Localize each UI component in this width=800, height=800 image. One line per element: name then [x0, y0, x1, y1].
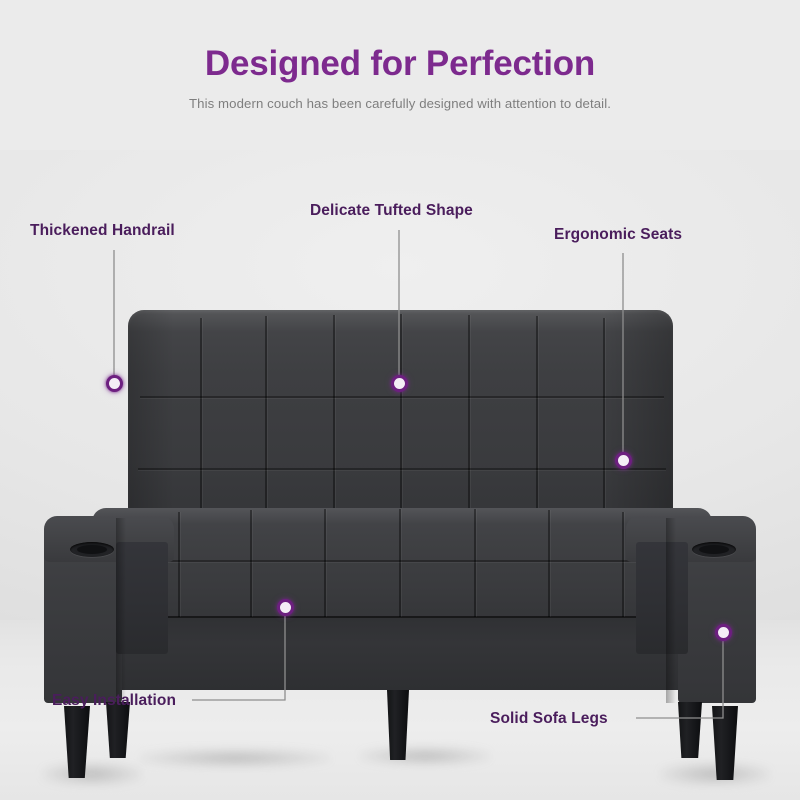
backrest-stitch	[603, 318, 605, 518]
sofa-leg	[712, 706, 738, 780]
callout-marker-thickened-handrail[interactable]	[106, 375, 123, 392]
callout-marker-easy-installation[interactable]	[277, 599, 294, 616]
seat-stitch	[250, 510, 252, 617]
backrest-stitch	[140, 396, 664, 398]
armrest-inner-panel-right	[636, 542, 688, 654]
backrest-stitch	[138, 468, 666, 470]
backrest-stitch	[468, 315, 470, 518]
backrest-stitch	[400, 314, 402, 518]
page-subtitle: This modern couch has been carefully des…	[0, 95, 800, 113]
seat-stitch	[474, 509, 476, 617]
backrest-stitch	[536, 316, 538, 518]
callout-label-delicate-tufted-shape[interactable]: Delicate Tufted Shape	[310, 202, 473, 220]
page-title: Designed for Perfection	[0, 42, 800, 86]
armrest-shading	[116, 518, 126, 703]
callout-marker-ergonomic-seats[interactable]	[615, 452, 632, 469]
cup-holder-right	[692, 542, 736, 557]
backrest-right-shading	[603, 310, 673, 525]
seat-stitch	[100, 560, 704, 562]
sofa-seat-cushion	[92, 508, 712, 633]
sofa-leg	[106, 702, 130, 758]
cup-holder-recess	[699, 545, 729, 554]
sofa-leg	[387, 690, 409, 760]
backrest-left-shading	[128, 310, 174, 525]
seat-stitch	[622, 512, 624, 617]
seat-highlight	[92, 508, 712, 524]
cup-holder-left	[70, 542, 114, 557]
armrest-shading	[666, 518, 676, 703]
backrest-stitch	[265, 316, 267, 518]
callout-label-easy-installation[interactable]: Easy Installation	[52, 692, 176, 710]
sofa-leg	[678, 702, 702, 758]
callout-marker-solid-sofa-legs[interactable]	[715, 624, 732, 641]
callout-label-solid-sofa-legs[interactable]: Solid Sofa Legs	[490, 710, 608, 728]
callout-label-ergonomic-seats[interactable]: Ergonomic Seats	[554, 226, 682, 244]
seat-stitch	[399, 509, 401, 617]
callout-marker-delicate-tufted-shape[interactable]	[391, 375, 408, 392]
seat-stitch	[324, 509, 326, 617]
sofa-base-frame	[92, 618, 712, 690]
sofa-leg	[64, 706, 90, 778]
backrest-stitch	[333, 315, 335, 518]
seat-stitch	[548, 510, 550, 617]
cup-holder-recess	[77, 545, 107, 554]
callout-label-thickened-handrail[interactable]: Thickened Handrail	[30, 222, 175, 240]
backrest-stitch	[200, 318, 202, 518]
infographic-canvas: Designed for Perfection This modern couc…	[0, 0, 800, 800]
seat-stitch	[178, 512, 180, 617]
header-block: Designed for Perfection This modern couc…	[0, 42, 800, 113]
